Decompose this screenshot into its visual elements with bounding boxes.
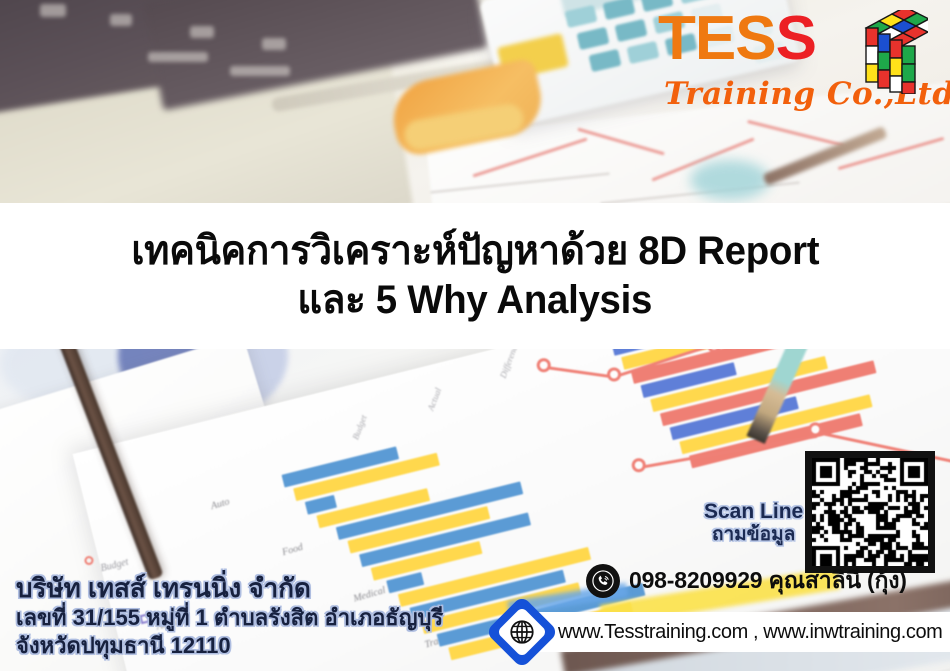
scan-line-title: Scan Line [704,500,803,524]
chart-col-label: Budget [350,414,368,441]
logo-text-tes: TES [658,4,776,73]
teal-object [690,160,770,200]
logo-wordmark: TESS [658,8,858,70]
phone-contact-row[interactable]: 098-8209929 คุณสาลินี (กุ้ง) [586,563,907,599]
logo-text-s: S [776,4,816,73]
trend-point [535,357,552,374]
keyboard-key [230,66,290,76]
trend-point [630,457,647,474]
phone-number: 098-8209929 คุณสาลินี (กุ้ง) [629,563,907,599]
scan-line-subtitle: ถามข้อมูล [704,524,803,547]
tess-logo: TESS Training Co.,Ltd [658,4,936,136]
company-name: บริษัท เทสส์ เทรนนิ่ง จำกัด [16,573,443,604]
phone-icon [586,564,620,598]
course-title-line1: เทคนิคการวิเคราะห์ปัญหาด้วย 8D Report [131,227,819,276]
website-bar[interactable]: www.Tesstraining.com , www.inwtraining.c… [512,612,950,652]
company-address-block: บริษัท เทสส์ เทรนนิ่ง จำกัด เลขที่ 31/15… [16,573,443,659]
qr-code-icon[interactable] [805,451,935,573]
keyboard-key [262,38,286,50]
course-title-line2: และ 5 Why Analysis [298,276,653,325]
promotional-poster: TESS Training Co.,Ltd [0,0,950,671]
chart-col-label: Actual [425,386,443,412]
scan-line-block: Scan Line ถามข้อมูล [704,500,803,546]
title-band: เทคนิคการวิเคราะห์ปัญหาด้วย 8D Report แล… [0,203,950,349]
trend-line-segment [545,366,613,378]
trend-point [606,366,623,383]
rubiks-cube-icon [854,10,928,94]
chart-col-label: Difference [498,349,521,380]
keyboard-key [40,4,66,17]
keyboard-spacebar [148,52,208,62]
website-urls: www.Tesstraining.com , www.inwtraining.c… [558,621,942,644]
keyboard-key [110,14,132,26]
company-province: จังหวัดปทุมธานี 12110 [16,632,443,660]
keyboard-key [190,26,214,38]
company-street: เลขที่ 31/155 หมู่ที่ 1 ตำบลรังสิต อำเภอ… [16,604,443,632]
